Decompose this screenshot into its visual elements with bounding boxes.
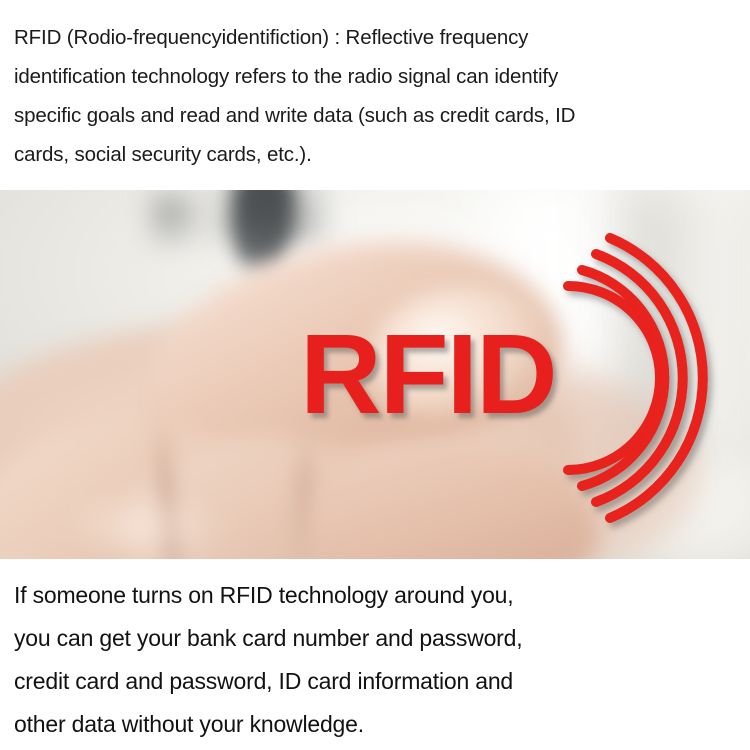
bottom-paragraph-line-2: you can get your bank card number and pa…: [14, 617, 736, 660]
rfid-infographic-page: RFID (Rodio-frequencyidentifiction) : Re…: [0, 0, 750, 750]
bottom-paragraph-line-1: If someone turns on RFID technology arou…: [14, 574, 736, 617]
rfid-hand-photo: RFID: [0, 190, 750, 559]
blurred-hand: [0, 190, 750, 559]
top-text-block: RFID (Rodio-frequencyidentifiction) : Re…: [0, 0, 750, 190]
bottom-text-block: If someone turns on RFID technology arou…: [0, 559, 750, 750]
bottom-paragraph-line-3: credit card and password, ID card inform…: [14, 660, 736, 703]
top-paragraph-line-1: RFID (Rodio-frequencyidentifiction) : Re…: [14, 18, 736, 57]
bottom-paragraph-line-4: other data without your knowledge.: [14, 703, 736, 746]
top-paragraph-line-3: specific goals and read and write data (…: [14, 96, 736, 135]
top-paragraph-line-2: identification technology refers to the …: [14, 57, 736, 96]
skin-highlight: [60, 490, 230, 559]
top-paragraph-line-4: cards, social security cards, etc.).: [14, 135, 736, 174]
